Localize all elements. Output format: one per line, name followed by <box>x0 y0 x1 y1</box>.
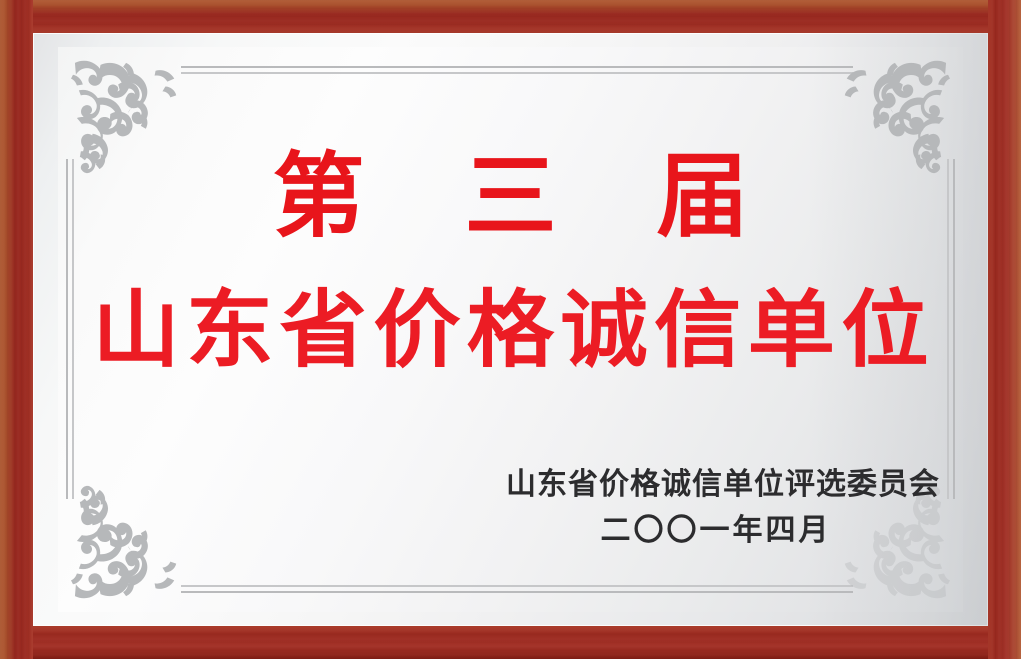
frame-edge-top <box>0 0 1021 33</box>
frame-edge-bottom <box>0 626 1021 659</box>
rule-bottom-inner <box>181 585 853 587</box>
rule-bottom-outer <box>181 591 853 593</box>
award-title-line2: 山东省价格诚信单位 <box>0 283 1021 377</box>
corner-flourish-icon-bottom-left <box>71 484 189 602</box>
rule-top-outer <box>181 66 853 68</box>
issue-date: 二〇〇一年四月 <box>506 512 926 550</box>
rule-top-inner <box>181 72 853 74</box>
issuing-organization: 山东省价格诚信单位评选委员会 <box>506 466 926 504</box>
signature-block: 山东省价格诚信单位评选委员会 二〇〇一年四月 <box>506 466 926 549</box>
award-plaque: 第 三 届 山东省价格诚信单位 山东省价格诚信单位评选委员会 二〇〇一年四月 <box>0 0 1021 659</box>
award-title-line1: 第 三 届 <box>0 150 1021 242</box>
